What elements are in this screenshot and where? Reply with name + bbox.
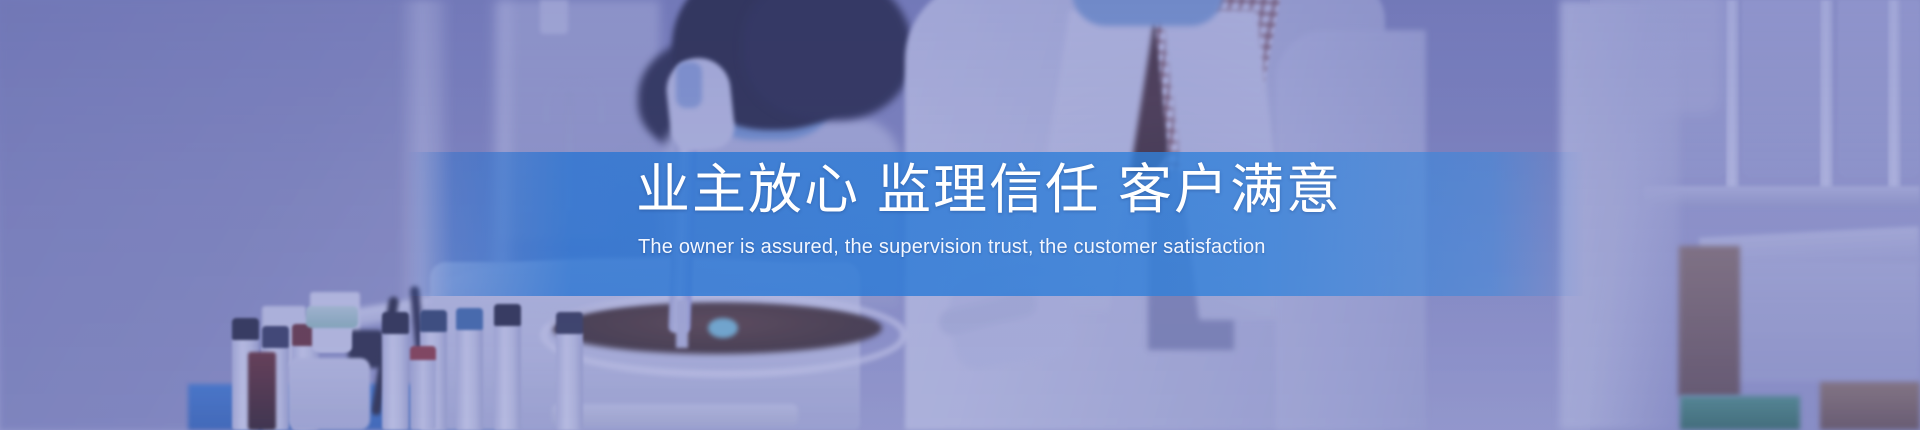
sample-vial	[382, 312, 409, 430]
lab-coat-right-edge	[1560, 0, 1680, 430]
window-sill	[1644, 186, 1920, 208]
reagent-bottle-body	[288, 358, 370, 430]
window-mullion	[1888, 0, 1901, 196]
dark-reagent-vial	[248, 352, 276, 430]
face-mask-right-icon	[1072, 0, 1224, 26]
cardboard-box-secondary	[1820, 382, 1920, 430]
lab-bench-right-front	[1716, 262, 1920, 382]
sample-vial	[456, 308, 483, 430]
pipette-tip	[676, 300, 688, 348]
window-pane	[1838, 0, 1920, 178]
sample-vial-cap	[456, 308, 483, 330]
wall-small-box	[540, 0, 568, 34]
slogan-headline: 业主放心 监理信任 客户满意	[636, 158, 1496, 222]
reagent-bottle-cap	[306, 306, 358, 328]
window-mullion	[1726, 0, 1739, 196]
window-pane	[1742, 0, 1820, 178]
slogan-subline: The owner is assured, the supervision tr…	[638, 233, 1538, 261]
cardboard-box	[1678, 246, 1740, 396]
sample-vial-cap	[262, 326, 289, 348]
lab-technician-right-arm	[1276, 30, 1426, 430]
cabinet-edge-secondary	[487, 0, 517, 300]
sample-vial-cap	[556, 312, 583, 334]
pipette-plunger	[676, 62, 702, 108]
green-storage-box	[1680, 396, 1800, 430]
sample-vial-cap	[420, 310, 447, 332]
sample-vial-cap	[494, 304, 521, 326]
faucet-stem	[566, 92, 573, 217]
lab-technician-front-hair-back	[742, 0, 912, 120]
faucet-base	[556, 210, 582, 226]
centrifuge-sample-dot	[708, 318, 738, 338]
red-cap-vial	[410, 346, 436, 430]
sample-vial	[556, 312, 583, 430]
window-mullion	[1820, 0, 1833, 196]
faucet-icon	[543, 76, 605, 123]
sample-vial	[494, 304, 521, 430]
sample-vial-cap	[232, 318, 259, 340]
centrifuge-front-bar	[552, 404, 798, 426]
hero-banner: 业主放心 监理信任 客户满意 The owner is assured, the…	[0, 0, 1920, 430]
sample-vial-cap	[382, 312, 409, 334]
